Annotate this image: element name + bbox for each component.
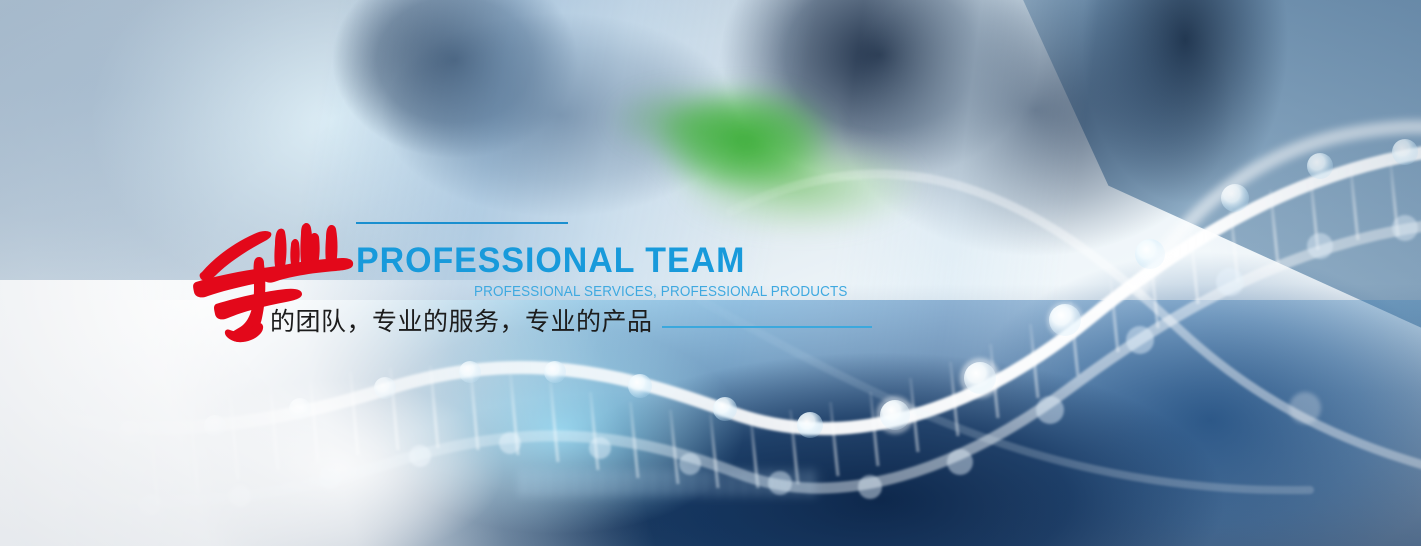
horizontal-rule-above-title bbox=[356, 222, 568, 224]
page-title: PROFESSIONAL TEAM bbox=[356, 243, 745, 278]
horizontal-rule-below-tagline bbox=[662, 326, 872, 328]
subtitle: PROFESSIONAL SERVICES, PROFESSIONAL PROD… bbox=[474, 285, 848, 300]
tagline-chinese: 的团队，专业的服务，专业的产品 bbox=[270, 308, 653, 337]
hero-banner: PROFESSIONAL TEAM PROFESSIONAL SERVICES,… bbox=[0, 0, 1421, 546]
headline-group: PROFESSIONAL TEAM PROFESSIONAL SERVICES,… bbox=[0, 0, 1421, 546]
